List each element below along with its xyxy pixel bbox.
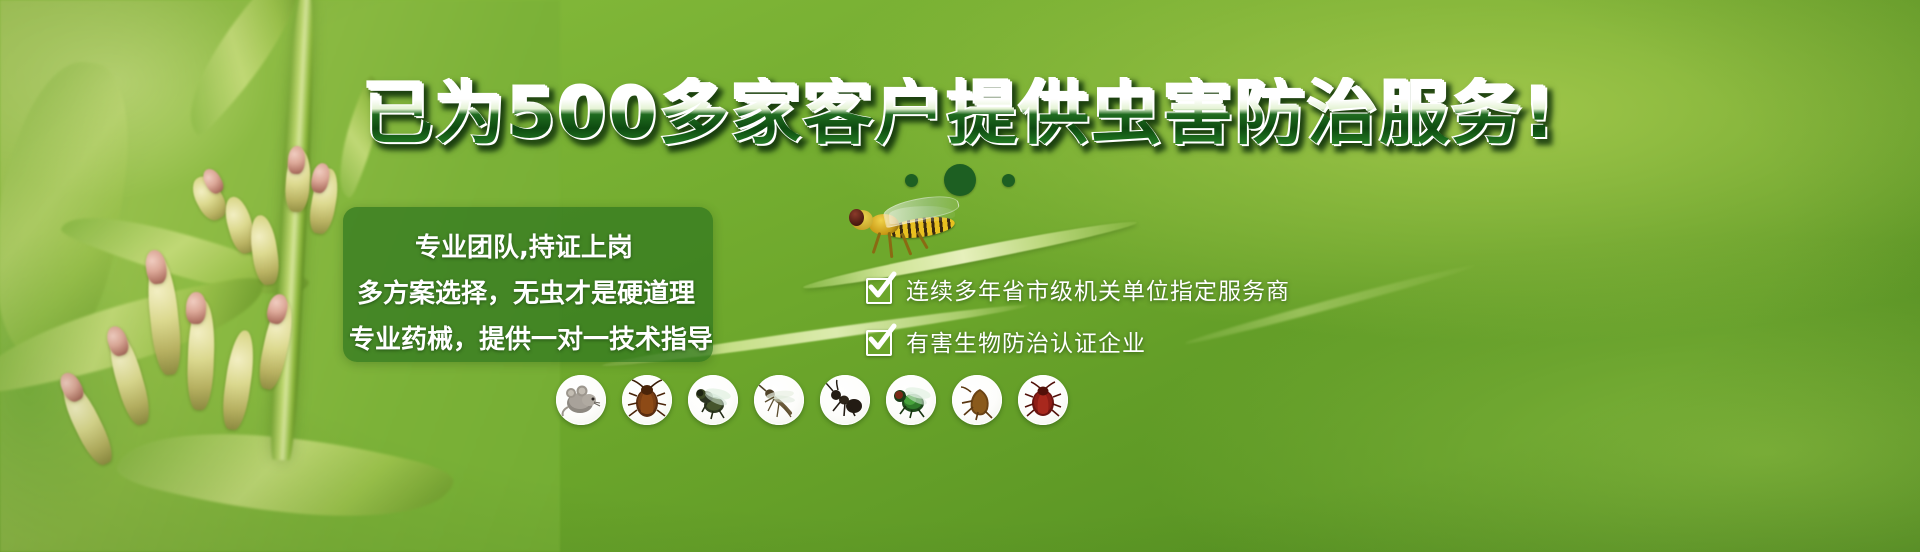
mouse-icon: [556, 375, 606, 425]
checkbox-checked-icon: [866, 276, 892, 302]
selling-points-panel: 专业团队,持证上岗 多方案选择，无虫才是硬道理 专业药械，提供一对一技术指导: [343, 207, 713, 362]
page-title: 已为500多家客户提供虫害防治服务!: [0, 78, 1920, 148]
dot-large-icon: [944, 164, 976, 196]
list-item: 连续多年省市级机关单位指定服务商: [866, 272, 1290, 306]
greenfly-icon: [886, 375, 936, 425]
dot-small-icon: [905, 174, 918, 187]
housefly-icon: [688, 375, 738, 425]
selling-point-line-2: 多方案选择，无虫才是硬道理: [357, 273, 695, 310]
credentials-list: 连续多年省市级机关单位指定服务商 有害生物防治认证企业: [866, 272, 1290, 376]
selling-point-line-3: 专业药械，提供一对一技术指导: [349, 319, 713, 356]
list-item: 有害生物防治认证企业: [866, 324, 1290, 358]
checkbox-checked-icon: [866, 328, 892, 354]
ant-icon: [820, 375, 870, 425]
pest-icon-row: [556, 375, 1068, 425]
selling-point-line-1: 专业团队,持证上岗: [415, 227, 633, 264]
mosquito-icon: [754, 375, 804, 425]
cockroach-icon: [622, 375, 672, 425]
credential-label: 有害生物防治认证企业: [906, 324, 1146, 358]
credential-label: 连续多年省市级机关单位指定服务商: [906, 272, 1290, 306]
flea-icon: [952, 375, 1002, 425]
promo-banner: 已为500多家客户提供虫害防治服务! 已为500多家客户提供虫害防治服务! 专业…: [0, 0, 1920, 552]
bedbug-icon: [1018, 375, 1068, 425]
dot-small-icon: [1002, 174, 1015, 187]
decorative-dots: [0, 160, 1920, 200]
